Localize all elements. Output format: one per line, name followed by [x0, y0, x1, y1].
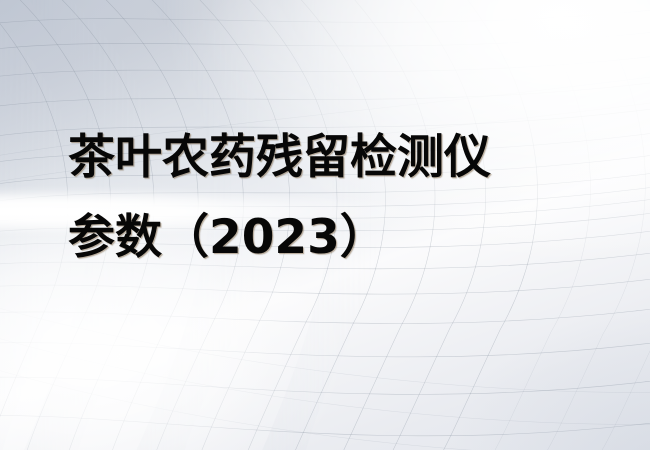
poster-title: 茶叶农药残留检测仪 参数（2023） [68, 118, 608, 278]
poster-canvas: 茶叶农药残留检测仪 参数（2023） [0, 0, 650, 450]
title-line-2: 参数（2023） [68, 198, 608, 278]
title-line-1: 茶叶农药残留检测仪 [68, 118, 608, 198]
